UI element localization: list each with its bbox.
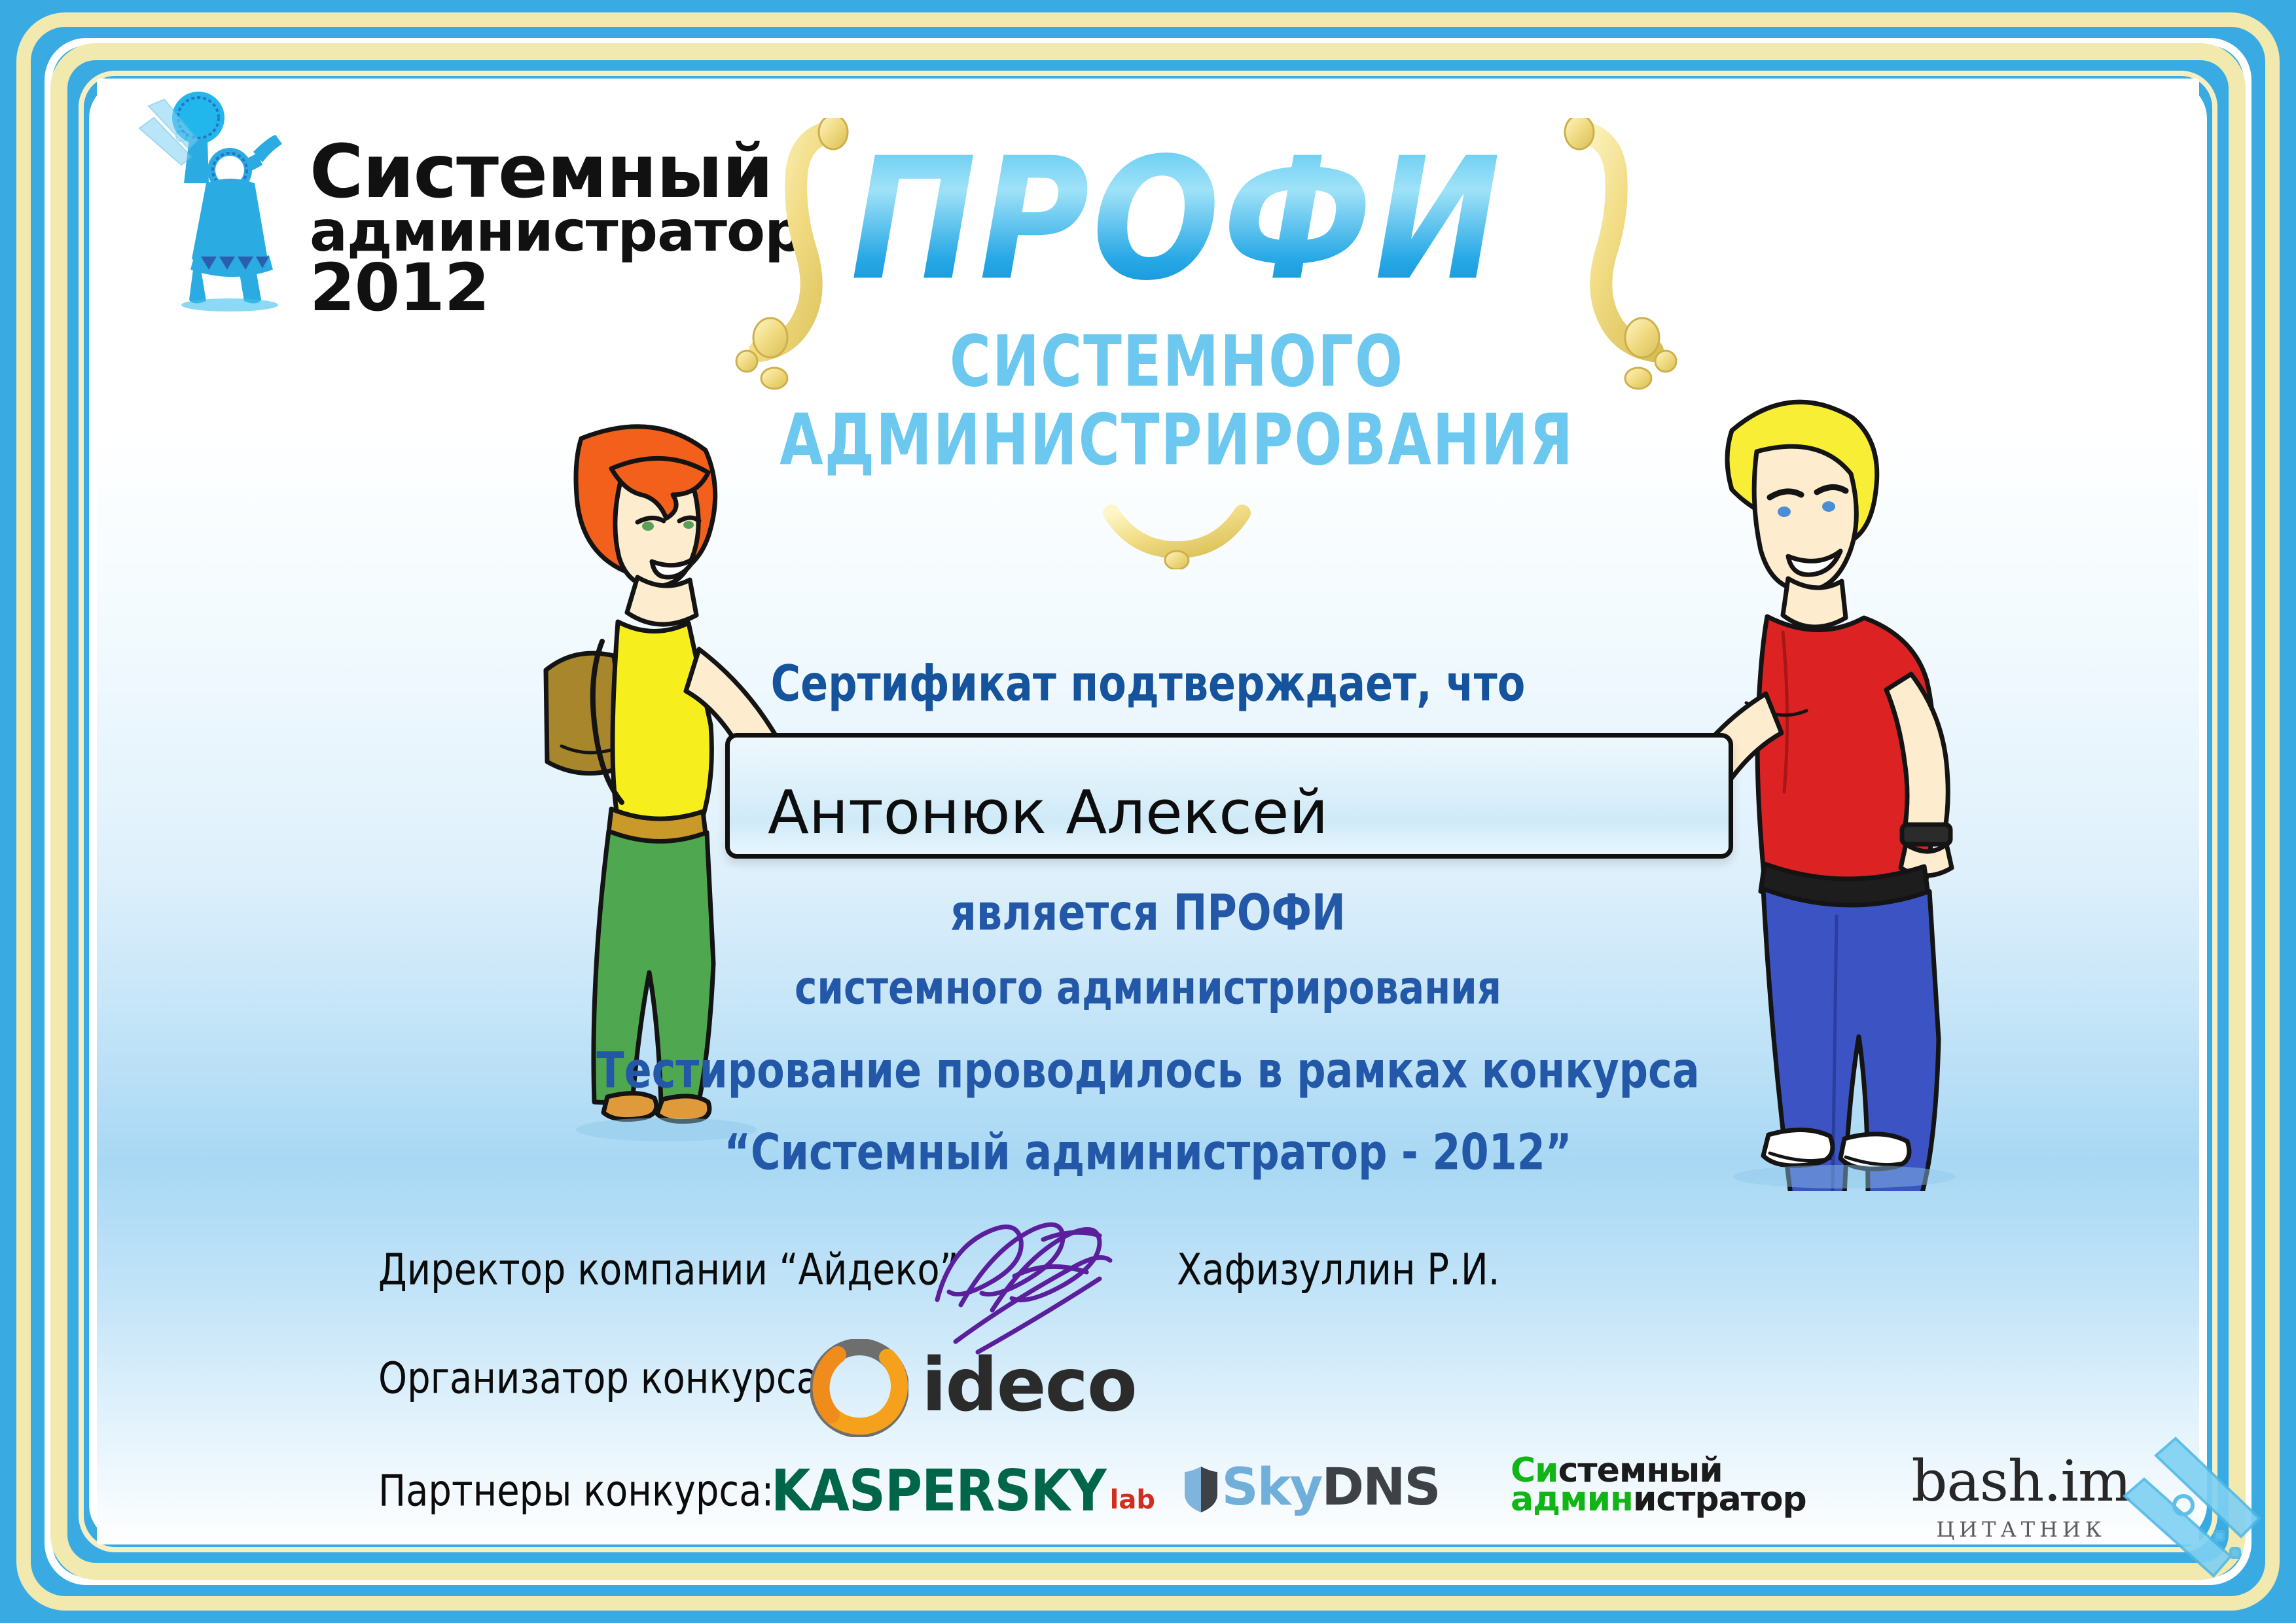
signature-label: Директор компании “Айдеко” bbox=[378, 1245, 959, 1295]
skydns-wordmark-sky: Sky bbox=[1221, 1458, 1321, 1517]
logo-line-1: Системный bbox=[310, 139, 804, 206]
sysadmin-logo-line-2a: админ bbox=[1511, 1480, 1633, 1519]
sysadmin-logo-line-2: администратор bbox=[1511, 1486, 1806, 1514]
pliers-ornament-icon-bottom-right bbox=[2110, 1433, 2261, 1584]
handwritten-signature-icon bbox=[915, 1207, 1151, 1357]
kaspersky-lab-label: lab bbox=[1110, 1485, 1155, 1515]
recipient-name: Антонюк Алексей bbox=[768, 777, 1328, 847]
contest-logo-text: Системный администратор 2012 bbox=[310, 139, 804, 318]
body-line-3: Тестирование проводилось в рамках конкур… bbox=[97, 1041, 2199, 1099]
certify-intro-text: Сертификат подтверждает, что bbox=[97, 654, 2199, 713]
certificate-body-text: является ПРОФИ системного администрирова… bbox=[97, 889, 2199, 1176]
signature-row: Директор компании “Айдеко” Хафизуллин Р.… bbox=[378, 1237, 1753, 1329]
body-line-4: “Системный администратор - 2012” bbox=[97, 1123, 2199, 1181]
partners-row: Партнеры конкурса: KASPERSKYlab SkyDNS С… bbox=[378, 1446, 2145, 1544]
certificate-body: Системный администратор 2012 bbox=[97, 79, 2199, 1544]
profi-title-block: ПРОФИ СИСТЕМНОГО АДМИНИСТРИРОВАНИЯ bbox=[751, 105, 1602, 510]
recipient-name-plate: Антонюк Алексей bbox=[725, 733, 1733, 859]
kaspersky-wordmark: KASPERSKY bbox=[771, 1459, 1106, 1525]
partner-skydns: SkyDNS bbox=[1183, 1458, 1440, 1517]
profi-subtitle-line-2: АДМИНИСТРИРОВАНИЯ bbox=[751, 405, 1602, 476]
organizer-row: Организатор конкурса: ideco bbox=[378, 1342, 1426, 1440]
partner-kaspersky: KASPERSKYlab bbox=[771, 1462, 1155, 1521]
bashim-wordmark: bash.im bbox=[1897, 1449, 2145, 1514]
partners-label: Партнеры конкурса: bbox=[378, 1466, 774, 1516]
partner-bashim: bash.im ЦИТАТНИК РУНЕТА bbox=[1897, 1449, 2145, 1544]
logo-line-3: 2012 bbox=[310, 258, 804, 318]
eskimo-figure-icon bbox=[138, 92, 321, 314]
skydns-wordmark-dns: DNS bbox=[1321, 1458, 1439, 1517]
skydns-shield-icon bbox=[1183, 1465, 1219, 1514]
profi-subtitle-line-1: СИСТЕМНОГО bbox=[751, 327, 1602, 397]
ideco-wordmark: ideco bbox=[922, 1343, 1136, 1428]
organizer-label: Организатор конкурса: bbox=[378, 1353, 831, 1404]
bashim-tagline: ЦИТАТНИК РУНЕТА bbox=[1897, 1517, 2145, 1544]
body-line-2: системного администрирования bbox=[97, 961, 2199, 1015]
contest-logo: Системный администратор 2012 bbox=[113, 85, 656, 452]
body-line-1: является ПРОФИ bbox=[97, 883, 2199, 942]
ideco-logo: ideco bbox=[810, 1339, 1177, 1437]
ideco-ring-icon bbox=[810, 1339, 908, 1437]
profi-title: ПРОФИ bbox=[850, 136, 1503, 305]
certificate-page: Системный администратор 2012 bbox=[0, 0, 2296, 1623]
sysadmin-logo-line-2b: истратор bbox=[1633, 1480, 1806, 1519]
signatory-name: Хафизуллин Р.И. bbox=[1177, 1245, 1500, 1295]
partner-sysadmin-magazine: Системный администратор bbox=[1511, 1457, 1806, 1514]
